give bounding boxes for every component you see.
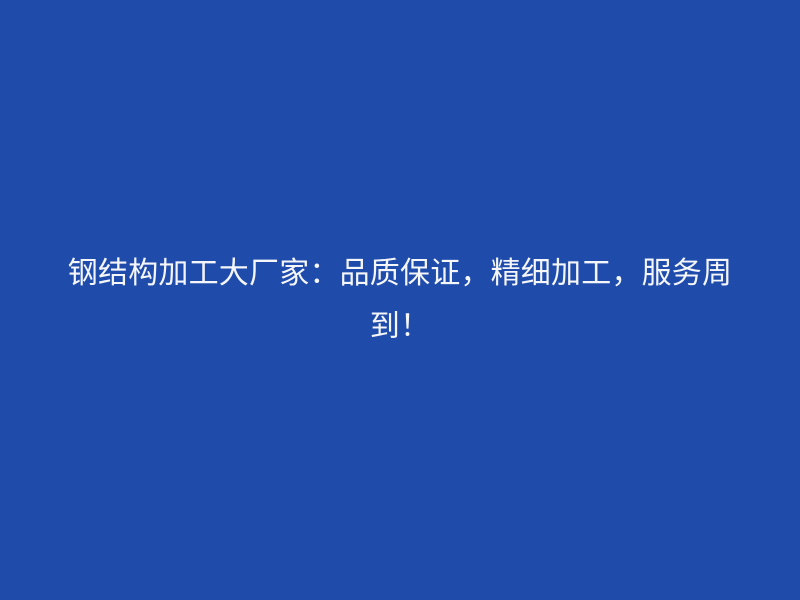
banner-card: 钢结构加工大厂家：品质保证，精细加工，服务周到！ — [0, 0, 800, 600]
page-title: 钢结构加工大厂家：品质保证，精细加工，服务周到！ — [48, 247, 752, 353]
banner-content: 钢结构加工大厂家：品质保证，精细加工，服务周到！ — [0, 247, 800, 353]
